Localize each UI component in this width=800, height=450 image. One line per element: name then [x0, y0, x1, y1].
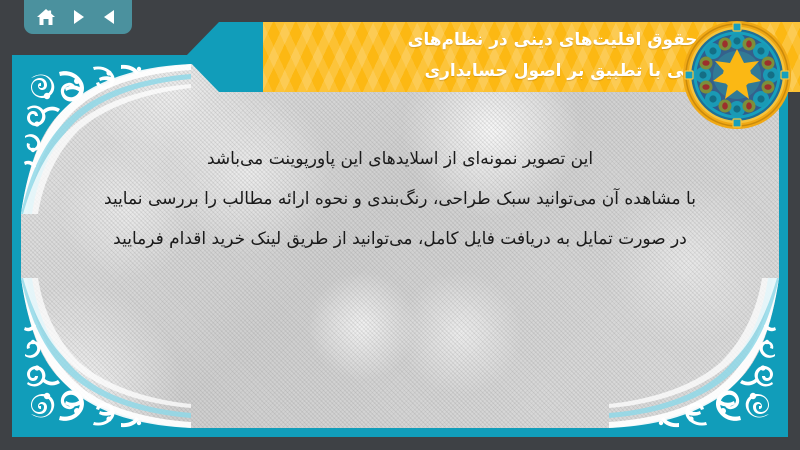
slide-title-banner: تحلیل حقوق اقلیت‌های دینی در نظام‌های حک… — [185, 22, 800, 92]
triangle-right-icon — [69, 8, 87, 26]
triangle-left-icon — [101, 8, 119, 26]
home-icon — [36, 7, 56, 27]
slide-body-text: این تصویر نمونه‌ای از اسلایدهای این پاور… — [51, 139, 749, 259]
back-button[interactable] — [98, 5, 122, 29]
filigree-corner-bottom-left-icon — [21, 278, 191, 428]
banner-arrow-connector — [185, 22, 265, 92]
slide-preview-window: این تصویر نمونه‌ای از اسلایدهای این پاور… — [0, 0, 800, 450]
slide-card: این تصویر نمونه‌ای از اسلایدهای این پاور… — [12, 55, 788, 437]
home-button[interactable] — [34, 5, 58, 29]
navigation-bar — [24, 0, 132, 34]
persian-medallion-icon — [681, 19, 793, 131]
body-line-1: این تصویر نمونه‌ای از اسلایدهای این پاور… — [51, 139, 749, 179]
body-line-3: در صورت تمایل به دریافت فایل کامل، می‌تو… — [51, 219, 749, 259]
body-line-2: با مشاهده آن می‌توانید سبک طراحی، رنگ‌بن… — [51, 179, 749, 219]
filigree-corner-bottom-right-icon — [609, 278, 779, 428]
slide-content-area: این تصویر نمونه‌ای از اسلایدهای این پاور… — [21, 64, 779, 428]
forward-button[interactable] — [66, 5, 90, 29]
